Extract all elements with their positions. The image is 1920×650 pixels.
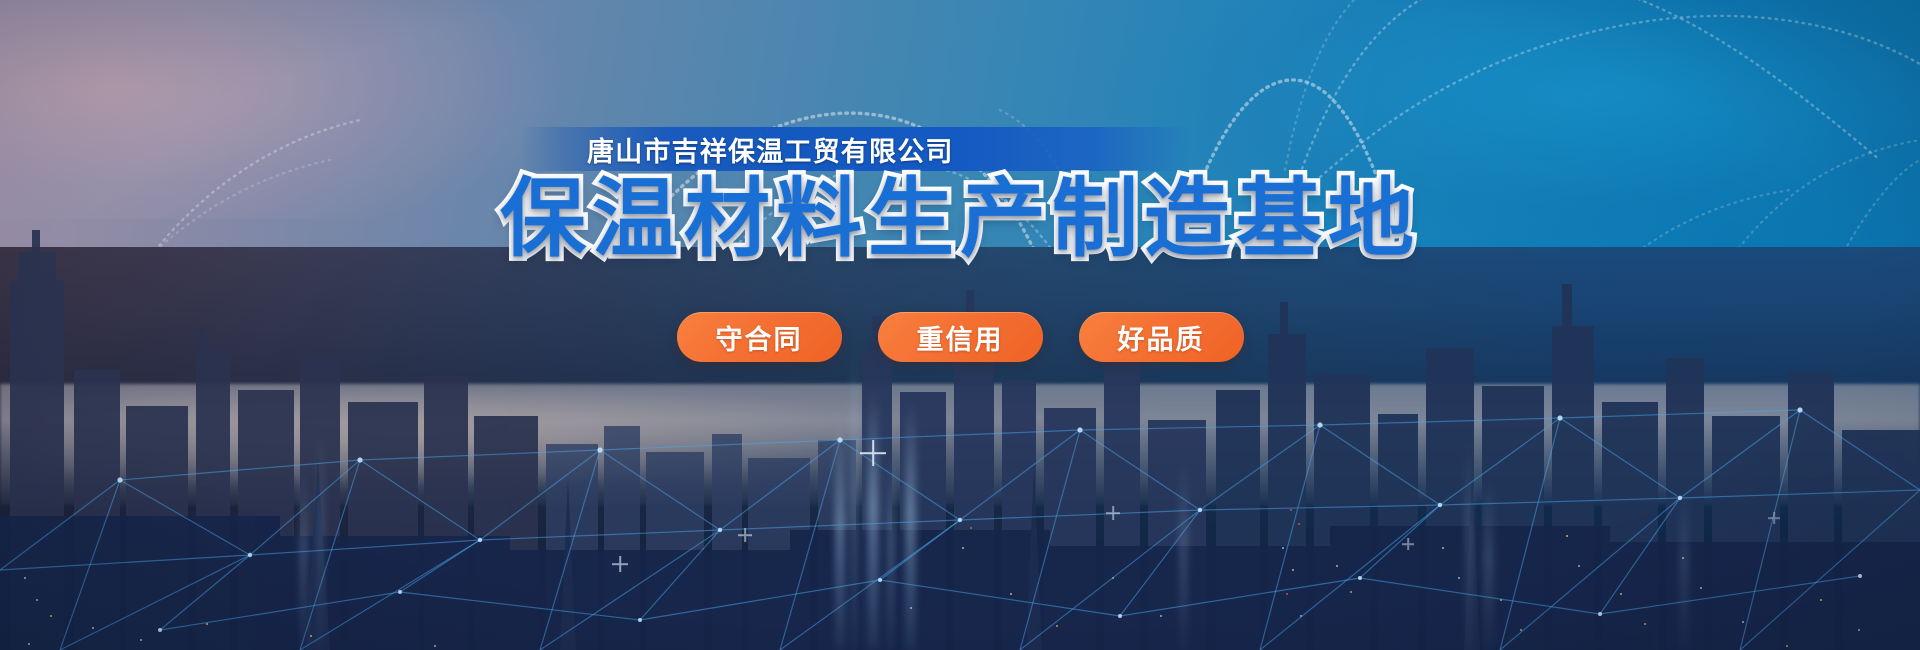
feature-pill-group: 守合同 重信用 好品质 — [0, 312, 1920, 362]
banner-content: 唐山市吉祥保温工贸有限公司 保温材料生产制造基地 守合同 重信用 好品质 — [0, 0, 1920, 650]
feature-pill-quality-label: 好品质 — [1118, 318, 1205, 357]
page-title: 保温材料生产制造基地 — [0, 176, 1920, 262]
feature-pill-quality[interactable]: 好品质 — [1079, 312, 1244, 362]
feature-pill-credit-label: 重信用 — [917, 318, 1004, 357]
company-name-text: 唐山市吉祥保温工贸有限公司 — [521, 130, 954, 169]
feature-pill-contract[interactable]: 守合同 — [677, 312, 842, 362]
feature-pill-credit[interactable]: 重信用 — [878, 312, 1043, 362]
hero-banner: 唐山市吉祥保温工贸有限公司 保温材料生产制造基地 守合同 重信用 好品质 — [0, 0, 1920, 650]
feature-pill-contract-label: 守合同 — [716, 318, 803, 357]
company-name-bar: 唐山市吉祥保温工贸有限公司 — [521, 127, 1191, 171]
